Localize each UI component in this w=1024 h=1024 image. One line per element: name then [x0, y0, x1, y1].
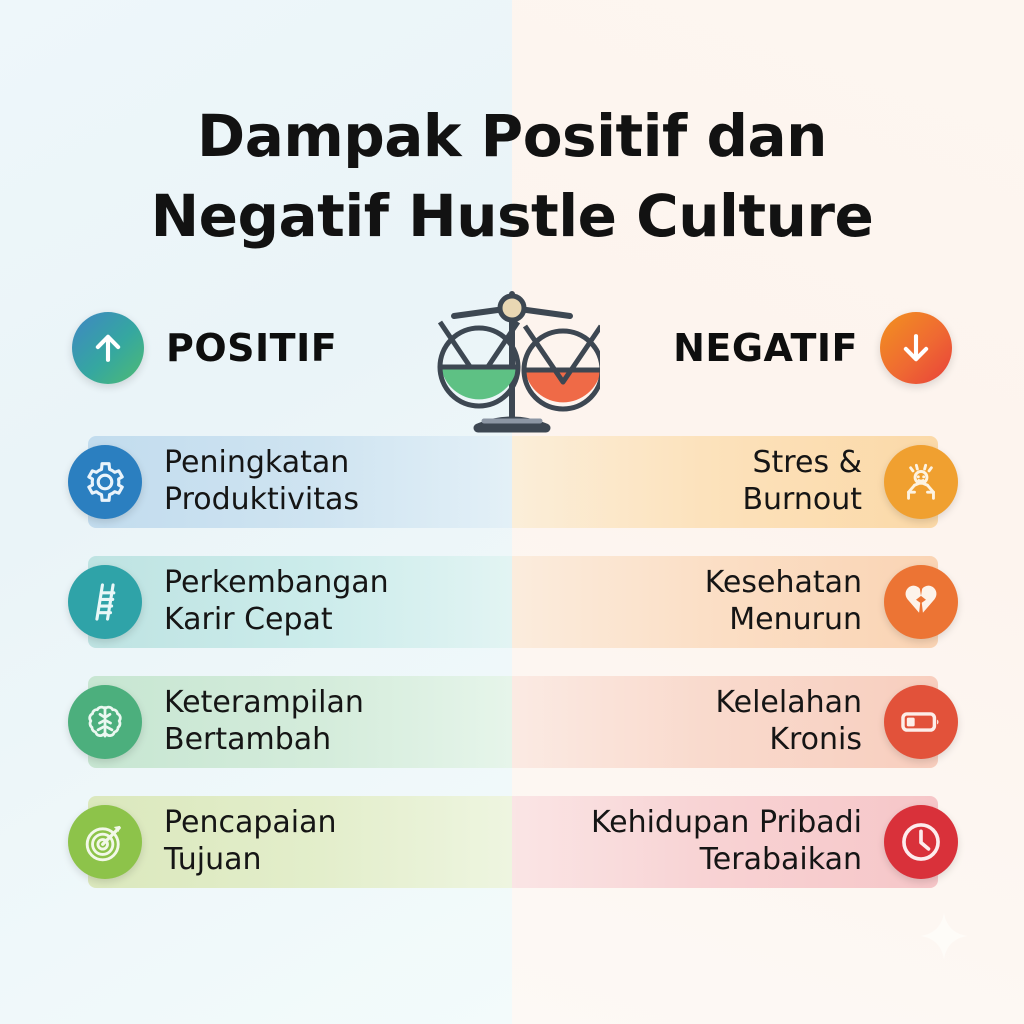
list-item-label: Kelelahan Kronis [715, 685, 862, 758]
arrow-up-icon [72, 312, 144, 384]
stressed-person-icon [884, 445, 958, 519]
list-item[interactable]: Stres & Burnout [742, 432, 958, 532]
list-item-label: Stres & Burnout [742, 445, 862, 518]
comparison-row: Peningkatan Produktivitas Stres & Burnou… [0, 432, 1024, 552]
negative-header: NEGATIF [673, 312, 952, 384]
list-item-label: Kehidupan Pribadi Terabaikan [591, 805, 862, 878]
brain-icon [68, 685, 142, 759]
sparkle-icon [916, 910, 972, 966]
arrow-down-icon [880, 312, 952, 384]
balance-scale-icon [424, 278, 600, 443]
comparison-row: Perkembangan Karir Cepat Kesehatan Menur… [0, 552, 1024, 672]
list-item[interactable]: Perkembangan Karir Cepat [68, 552, 389, 652]
comparison-row: Pencapaian Tujuan Kehidupan Pribadi Tera… [0, 792, 1024, 912]
page-title: Dampak Positif dan Negatif Hustle Cultur… [0, 96, 1024, 256]
infographic-canvas: Dampak Positif dan Negatif Hustle Cultur… [0, 0, 1024, 1024]
positive-header: POSITIF [72, 312, 337, 384]
ladder-icon [68, 565, 142, 639]
list-item-label: Kesehatan Menurun [705, 565, 862, 638]
gear-icon [68, 445, 142, 519]
comparison-rows: Peningkatan Produktivitas Stres & Burnou… [0, 432, 1024, 912]
list-item[interactable]: Kehidupan Pribadi Terabaikan [591, 792, 958, 892]
list-item[interactable]: Pencapaian Tujuan [68, 792, 337, 892]
low-battery-icon [884, 685, 958, 759]
list-item-label: Perkembangan Karir Cepat [164, 565, 389, 638]
target-icon [68, 805, 142, 879]
positive-header-label: POSITIF [166, 326, 337, 370]
clock-icon [884, 805, 958, 879]
list-item-label: Peningkatan Produktivitas [164, 445, 359, 518]
list-item-label: Keterampilan Bertambah [164, 685, 364, 758]
list-item[interactable]: Peningkatan Produktivitas [68, 432, 359, 532]
list-item[interactable]: Kesehatan Menurun [705, 552, 958, 652]
list-item-label: Pencapaian Tujuan [164, 805, 337, 878]
broken-heart-icon [884, 565, 958, 639]
title-line-1: Dampak Positif dan [0, 96, 1024, 176]
list-item[interactable]: Kelelahan Kronis [715, 672, 958, 772]
negative-header-label: NEGATIF [673, 326, 858, 370]
comparison-row: Keterampilan Bertambah Kelelahan Kronis [0, 672, 1024, 792]
list-item[interactable]: Keterampilan Bertambah [68, 672, 364, 772]
title-line-2: Negatif Hustle Culture [0, 176, 1024, 256]
